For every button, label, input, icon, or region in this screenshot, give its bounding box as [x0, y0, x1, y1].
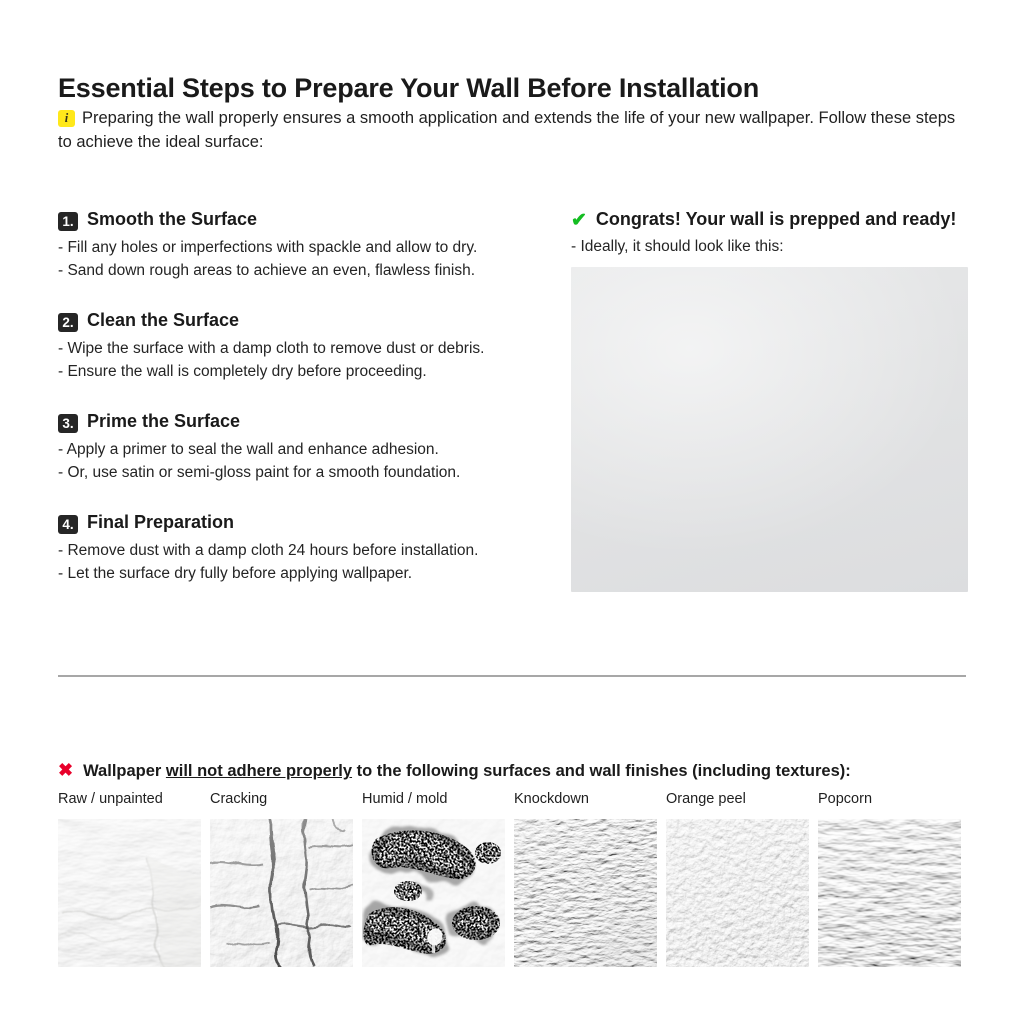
step-heading-row: 2. Clean the Surface [58, 309, 528, 331]
warning-text-emphasis: will not adhere properly [166, 762, 352, 780]
step-detail-line: - Sand down rough areas to achieve an ev… [58, 259, 528, 282]
bad-surface-label: Cracking [210, 790, 353, 808]
texture-orange-peel-image [666, 819, 809, 967]
section-divider [58, 675, 966, 677]
warning-text-before: Wallpaper [83, 762, 166, 780]
intro-paragraph: iPreparing the wall properly ensures a s… [58, 106, 970, 154]
bad-surface-label: Raw / unpainted [58, 790, 201, 808]
check-icon: ✔ [571, 210, 587, 232]
bad-surface-cell: Popcorn [818, 790, 961, 967]
warning-text-after: to the following surfaces and wall finis… [352, 762, 851, 780]
step-item: 2. Clean the Surface - Wipe the surface … [58, 309, 528, 383]
step-detail-line: - Or, use satin or semi-gloss paint for … [58, 461, 528, 484]
good-wall-image [571, 267, 968, 592]
bad-surface-cell: Humid / mold [362, 790, 505, 967]
bad-surface-label: Humid / mold [362, 790, 505, 808]
texture-knockdown-image [514, 819, 657, 967]
step-number-badge: 1. [58, 212, 78, 231]
wall-preparation-guide: Essential Steps to Prepare Your Wall Bef… [0, 0, 1024, 1024]
step-item: 1. Smooth the Surface - Fill any holes o… [58, 208, 528, 282]
bad-surface-cell: Knockdown [514, 790, 657, 967]
info-icon: i [58, 110, 75, 127]
step-heading-row: 3. Prime the Surface [58, 410, 528, 432]
cross-icon: ✖ [58, 758, 73, 782]
step-heading: Clean the Surface [87, 309, 239, 331]
step-heading-row: 1. Smooth the Surface [58, 208, 528, 230]
texture-humid-mold-image [362, 819, 505, 967]
warning-text: Wallpaper will not adhere properly to th… [83, 759, 851, 783]
step-detail-line: - Wipe the surface with a damp cloth to … [58, 337, 528, 360]
step-heading: Final Preparation [87, 511, 234, 533]
good-example-panel: ✔ Congrats! Your wall is prepped and rea… [571, 208, 968, 592]
texture-popcorn-image [818, 819, 961, 967]
bad-surface-label: Knockdown [514, 790, 657, 808]
good-example-subtext: - Ideally, it should look like this: [571, 236, 968, 258]
bad-surface-label: Orange peel [666, 790, 809, 808]
step-number-badge: 2. [58, 313, 78, 332]
step-detail-line: - Apply a primer to seal the wall and en… [58, 438, 528, 461]
step-heading: Smooth the Surface [87, 208, 257, 230]
step-item: 4. Final Preparation - Remove dust with … [58, 511, 528, 585]
good-example-heading: Congrats! Your wall is prepped and ready… [596, 208, 956, 230]
bad-surface-cell: Raw / unpainted [58, 790, 201, 967]
bad-surface-cell: Cracking [210, 790, 353, 967]
page-title: Essential Steps to Prepare Your Wall Bef… [58, 72, 968, 104]
step-detail-line: - Ensure the wall is completely dry befo… [58, 360, 528, 383]
step-heading-row: 4. Final Preparation [58, 511, 528, 533]
bad-surface-label: Popcorn [818, 790, 961, 808]
step-item: 3. Prime the Surface - Apply a primer to… [58, 410, 528, 484]
bad-surface-cell: Orange peel [666, 790, 809, 967]
step-detail-line: - Remove dust with a damp cloth 24 hours… [58, 539, 528, 562]
steps-list: 1. Smooth the Surface - Fill any holes o… [58, 208, 528, 585]
step-detail-line: - Let the surface dry fully before apply… [58, 562, 528, 585]
texture-cracking-image [210, 819, 353, 967]
bad-surfaces-grid: Raw / unpainted [58, 790, 968, 967]
good-example-heading-row: ✔ Congrats! Your wall is prepped and rea… [571, 208, 968, 231]
step-number-badge: 4. [58, 515, 78, 534]
texture-raw-unpainted-image [58, 819, 201, 967]
step-heading: Prime the Surface [87, 410, 240, 432]
warning-heading: ✖ Wallpaper will not adhere properly to … [58, 758, 970, 783]
step-number-badge: 3. [58, 414, 78, 433]
step-detail-line: - Fill any holes or imperfections with s… [58, 236, 528, 259]
intro-text: Preparing the wall properly ensures a sm… [58, 109, 955, 151]
